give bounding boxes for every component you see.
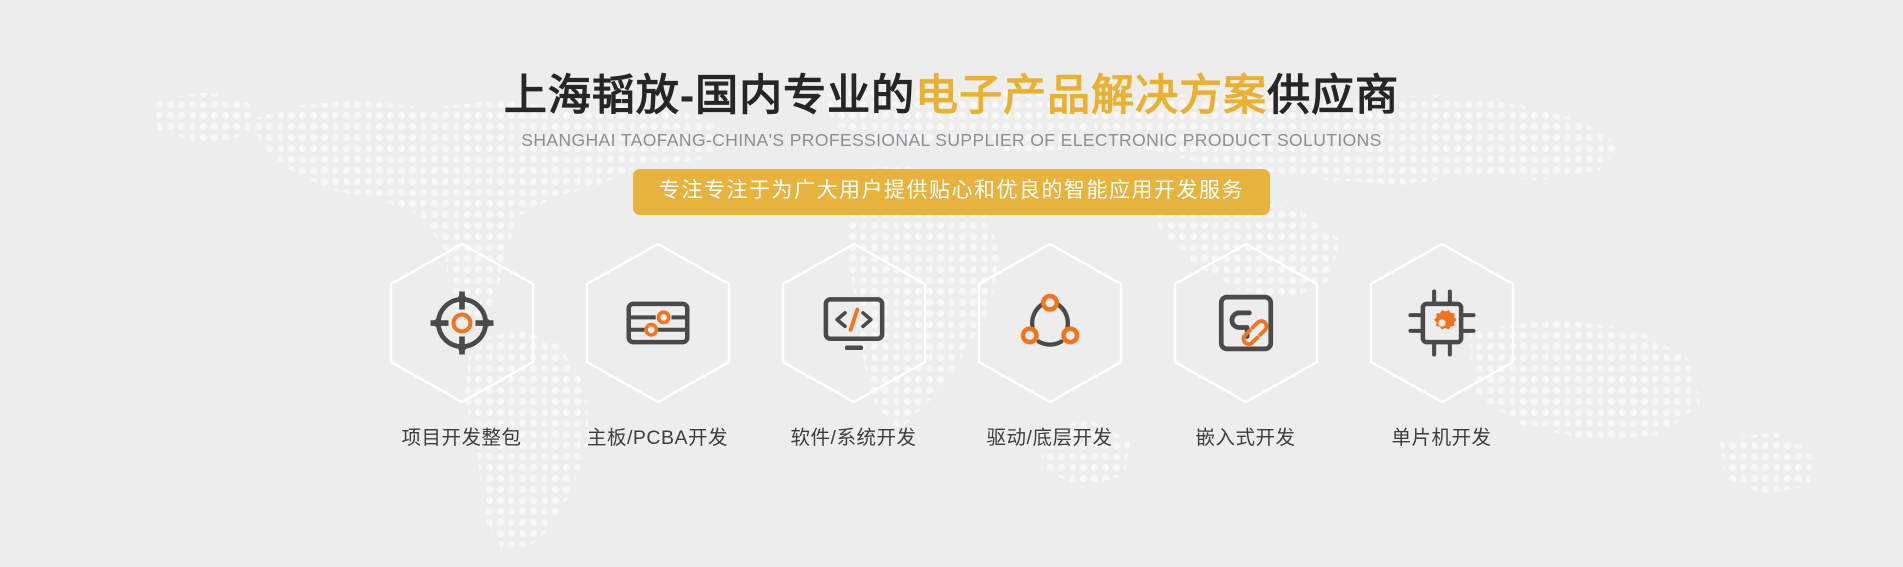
hexagon-frame [388,241,536,405]
service-label: 主板/PCBA开发 [587,421,728,450]
hexagon-frame [1368,241,1516,405]
hexagon-frame [780,241,928,405]
microchip-gear-icon [1406,287,1478,359]
hexagon-frame [584,241,732,405]
monitor-code-icon [818,287,890,359]
service-item-software[interactable]: 软件/系统开发 [756,241,952,450]
service-label: 项目开发整包 [401,421,521,450]
service-label: 软件/系统开发 [791,421,917,450]
service-label: 单片机开发 [1391,421,1491,450]
service-item-mcu[interactable]: 单片机开发 [1344,241,1540,450]
service-list: 项目开发整包 [364,241,1540,450]
hexagon-frame [976,241,1124,405]
headline-suffix: 供应商 [1267,72,1399,120]
service-item-pcba[interactable]: 主板/PCBA开发 [560,241,756,450]
embedded-chip-link-icon [1210,287,1282,359]
tagline-badge: 专注专注于为广大用户提供贴心和优良的智能应用开发服务 [633,169,1270,214]
service-item-driver[interactable]: 驱动/底层开发 [952,241,1148,450]
service-item-project-package[interactable]: 项目开发整包 [364,241,560,450]
service-item-embedded[interactable]: 嵌入式开发 [1148,241,1344,450]
subtitle-english: SHANGHAI TAOFANG-CHINA'S PROFESSIONAL SU… [521,130,1381,151]
headline-accent: 电子产品解决方案 [915,72,1267,120]
service-label: 驱动/底层开发 [987,421,1113,450]
headline-prefix: 上海韬放-国内专业的 [504,72,915,120]
pcb-board-icon [622,287,694,359]
banner-content: 上海韬放-国内专业的电子产品解决方案供应商 SHANGHAI TAOFANG-C… [0,0,1903,567]
page-title: 上海韬放-国内专业的电子产品解决方案供应商 [504,72,1399,121]
service-label: 嵌入式开发 [1195,421,1295,450]
crosshair-target-icon [426,287,498,359]
hero-banner: 上海韬放-国内专业的电子产品解决方案供应商 SHANGHAI TAOFANG-C… [0,0,1903,567]
network-nodes-icon [1014,287,1086,359]
hexagon-frame [1172,241,1320,405]
